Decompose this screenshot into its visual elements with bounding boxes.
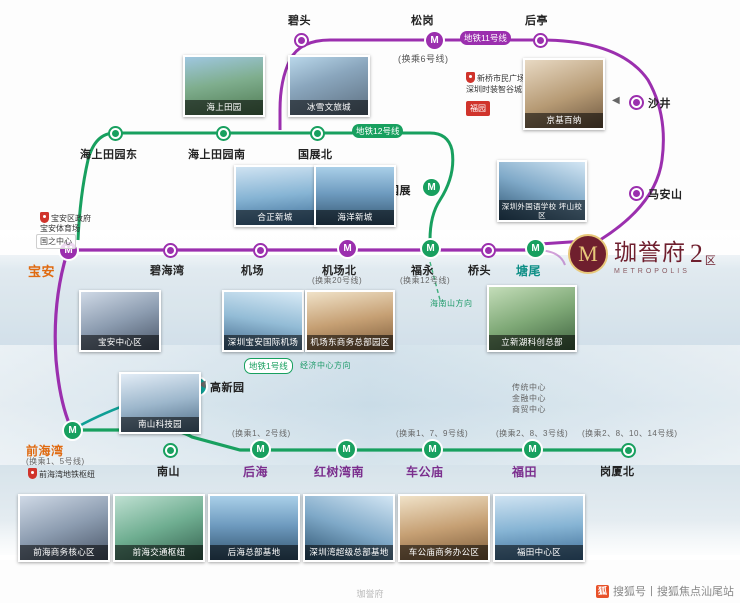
thumbnail-caption: 海洋新城 [316, 210, 394, 225]
thumbnail-shenzhen-huizhan[interactable]: 深圳外国语学校 坪山校区 [497, 160, 587, 222]
line-tag-line11: 地铁11号线 [460, 31, 511, 45]
station-marker-jichang[interactable] [253, 243, 268, 258]
thumbnail-nanshan-keji-yuan[interactable]: 南山科技园 [119, 372, 201, 434]
station-label-chegongmiao: 车公庙 [406, 463, 444, 480]
thumbnail-baoan-zhongxinqu[interactable]: 宝安中心区 [79, 290, 161, 352]
station-marker-gangxiabei[interactable] [621, 443, 636, 458]
station-label-nanshan: 南山 [157, 463, 180, 479]
thumbnail-shenzhenwan-chaoji[interactable]: 深圳湾超级总部基地 [303, 494, 395, 562]
crest-icon: M [568, 234, 608, 274]
station-marker-futian[interactable]: M [524, 441, 541, 458]
thumbnail-caption: 机场东商务总部园区 [307, 335, 393, 350]
chip-baoan-tag: 国之中心 [36, 234, 76, 249]
thumbnail-caption: 京基百纳 [525, 113, 603, 128]
note-transfer20: (换乘20号线) [312, 275, 362, 286]
line-tag-line1: 地铁1号线 [244, 358, 293, 374]
thumbnail-caption: 宝安中心区 [81, 335, 159, 350]
brand-district: 2 [690, 239, 703, 269]
thumbnail-jingji-baina[interactable]: 京基百纳 [523, 58, 605, 130]
thumbnail-haiyang-xincheng[interactable]: 海洋新城 [314, 165, 396, 227]
thumbnail-futian-zhongxinqu[interactable]: 福田中心区 [493, 494, 585, 562]
note-jichang-direction: 海南山方向 [430, 298, 473, 309]
thumbnail-caption: 深圳湾超级总部基地 [305, 545, 393, 560]
station-marker-fuyong[interactable]: M [422, 240, 439, 257]
note-center-c: 商贸中心 [512, 404, 546, 415]
station-label-houting: 后亭 [525, 12, 548, 28]
station-marker-bihaiwan[interactable] [163, 243, 178, 258]
station-marker-jichangbei[interactable]: M [339, 240, 356, 257]
poi-qianhai-hub: 前海湾地铁枢纽 [28, 468, 95, 480]
station-marker-guozhan[interactable]: M [423, 179, 440, 196]
station-marker-qiaotou[interactable] [481, 243, 496, 258]
thumbnail-chegongmiao-shangwu[interactable]: 车公庙商务办公区 [398, 494, 490, 562]
thumbnail-houhai-zongbu[interactable]: 后海总部基地 [208, 494, 300, 562]
station-label-tangwei: 塘尾 [516, 262, 541, 279]
thumbnail-caption: 深圳外国语学校 坪山校区 [499, 200, 585, 220]
thumbnail-caption: 海上田园 [185, 100, 263, 115]
arrow-shajing: ◀ [612, 95, 620, 106]
thumbnail-caption: 前海交通枢纽 [115, 545, 203, 560]
thumbnail-qianhai-shangwu[interactable]: 前海商务核心区 [18, 494, 110, 562]
station-marker-guozhanbei[interactable] [310, 126, 325, 141]
station-marker-shajing[interactable] [629, 95, 644, 110]
station-marker-houhai[interactable]: M [252, 441, 269, 458]
thumbnail-qianhai-jiaotong[interactable]: 前海交通枢纽 [113, 494, 205, 562]
note-gaoxin-direction: 经济中心方向 [300, 360, 351, 371]
station-label-maanshan: 马安山 [648, 186, 683, 202]
line-tag-line12: 地铁12号线 [352, 124, 403, 138]
thumbnail-caption: 冰雪文旅城 [290, 100, 368, 115]
thumbnail-caption: 立新湖科创总部 [489, 335, 575, 350]
pin-icon [466, 72, 475, 83]
center-watermark: 珈誉府 [356, 587, 383, 600]
station-marker-tangwei[interactable]: M [527, 240, 544, 257]
pin-icon [28, 468, 37, 479]
station-label-houhai: 后海 [243, 463, 268, 480]
thumbnail-haishang-tianyuan[interactable]: 海上田园 [183, 55, 265, 117]
station-marker-chegongmiao[interactable]: M [424, 441, 441, 458]
note-transfer12b: (换乘1、2号线) [232, 428, 291, 439]
thumbnail-caption: 后海总部基地 [210, 545, 298, 560]
note-center-b: 金融中心 [512, 393, 546, 404]
station-label-haishangtianyuannan: 海上田园南 [188, 146, 246, 162]
station-label-baoan: 宝安 [28, 261, 55, 280]
footer-watermark: 狐 搜狐号丨搜狐焦点汕尾站 [596, 583, 734, 599]
station-marker-songgang[interactable]: M [426, 32, 443, 49]
station-label-gaoxinyuan: 高新园 [210, 379, 245, 395]
brand-district-unit: 区 [705, 252, 716, 268]
poi-xinqiao-plaza: 新桥市民广场 [466, 72, 525, 84]
station-label-songgang: 松岗 [411, 12, 434, 28]
note-transfer283: (换乘2、8、3号线) [496, 428, 568, 439]
thumbnail-hezheng-xincheng[interactable]: 合正新城 [234, 165, 316, 227]
thumbnail-caption: 深圳宝安国际机场 [224, 335, 302, 350]
footer-text: 搜狐号丨搜狐焦点汕尾站 [613, 583, 734, 599]
station-marker-houting[interactable] [533, 33, 548, 48]
thumbnail-caption: 福田中心区 [495, 545, 583, 560]
thumbnail-caption: 车公庙商务办公区 [400, 545, 488, 560]
metro-map-poster: M 松岗 (换乘6号线) 后亭 碧头 地铁11号线 沙井 ◀ 马安山 海上田园东… [0, 0, 740, 603]
wordmark: 珈誉府 METROPOLIS [614, 233, 690, 275]
station-label-jichang: 机场 [241, 262, 264, 278]
station-label-gangxiabei: 岗厦北 [600, 463, 635, 479]
station-label-hongshuwannan: 红树湾南 [314, 463, 364, 480]
poi-xinqiao-fashion: 深圳时装智谷城 [466, 84, 522, 95]
thumbnail-bingxue-wenlvcheng[interactable]: 冰雪文旅城 [288, 55, 370, 117]
station-label-futian: 福田 [512, 463, 537, 480]
note-transfer6: (换乘6号线) [398, 52, 449, 65]
station-marker-hongshuwannan[interactable]: M [338, 441, 355, 458]
note-transfer15-qhw: (换乘1、5号线) [26, 456, 85, 467]
note-transfer179: (换乘1、7、9号线) [396, 428, 468, 439]
note-transfer12: (换乘12号线) [400, 275, 450, 286]
thumbnail-jichang-dong-hq[interactable]: 机场东商务总部园区 [305, 290, 395, 352]
thumbnail-lichao-xinhaike[interactable]: 立新湖科创总部 [487, 285, 577, 352]
station-marker-bitou[interactable] [294, 33, 309, 48]
chip-xinqiao-c: 福园 [466, 101, 490, 116]
station-marker-haishangtianyuannan[interactable] [216, 126, 231, 141]
station-marker-haishangtianyuandong[interactable] [108, 126, 123, 141]
station-marker-nanshan[interactable] [163, 443, 178, 458]
souhu-badge-icon: 狐 [596, 585, 609, 598]
station-label-bitou: 碧头 [288, 12, 311, 28]
project-logo: M 珈誉府 METROPOLIS 2 区 [568, 232, 732, 276]
pin-icon [40, 212, 49, 223]
brand-name: 珈誉府 [614, 233, 690, 267]
note-transfer-2-8-10-14: (换乘2、8、10、14号线) [582, 428, 678, 439]
note-center-a: 传统中心 [512, 382, 546, 393]
thumbnail-caption: 南山科技园 [121, 417, 199, 432]
thumbnail-caption: 前海商务核心区 [20, 545, 108, 560]
station-marker-maanshan[interactable] [629, 186, 644, 201]
station-label-qiaotou: 桥头 [468, 262, 491, 278]
station-label-guozhanbei: 国展北 [298, 146, 333, 162]
poi-baoan-market: 宝安体育场 [40, 223, 80, 234]
station-marker-qianhaiwan[interactable]: M [64, 422, 81, 439]
thumbnail-caption: 合正新城 [236, 210, 314, 225]
brand-sub: METROPOLIS [614, 268, 690, 275]
station-label-shajing: 沙井 [648, 95, 671, 111]
station-label-haishangtianyuandong: 海上田园东 [80, 146, 138, 162]
station-label-bihaiwan: 碧海湾 [150, 262, 185, 278]
thumbnail-shenzhen-baoan-airport[interactable]: 深圳宝安国际机场 [222, 290, 304, 352]
